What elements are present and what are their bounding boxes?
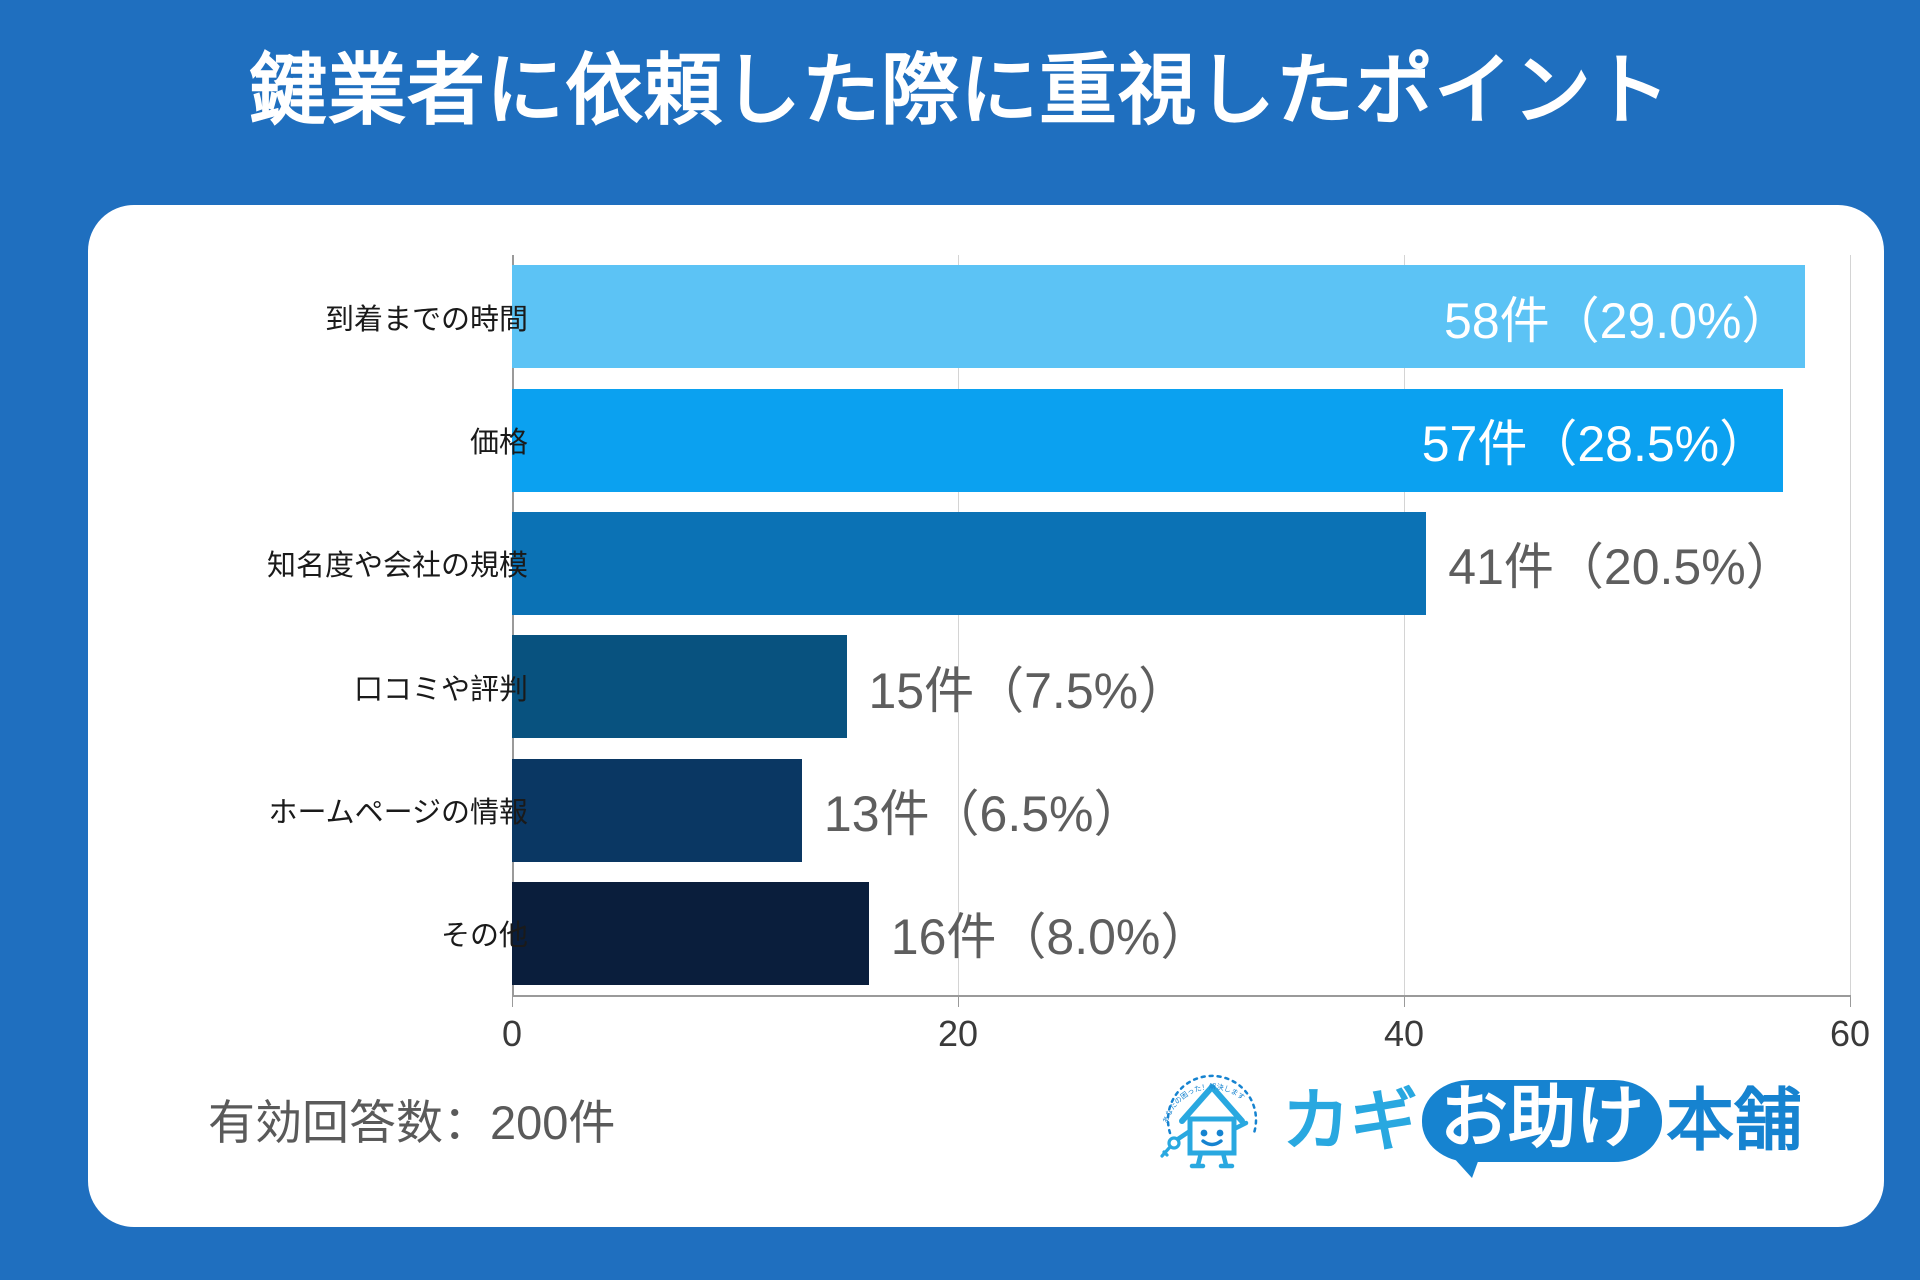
y-axis-label: ホームページの情報 [268,789,528,831]
x-axis: 0204060 [512,995,1850,1065]
bar-value-label: 58件（29.0%） [1444,281,1791,353]
bar-row: 15件（7.5%） [512,635,1850,738]
brand-logo: あなたの困った！解決します カギ お助け 本舗 [1156,1063,1802,1179]
chart-card: 58件（29.0%）57件（28.5%）41件（20.5%）15件（7.5%）1… [88,205,1884,1227]
bar-row: 13件（6.5%） [512,759,1850,862]
y-axis-label: 価格 [470,419,528,461]
logo-part1: カギ [1282,1087,1418,1155]
y-axis-label: 到着までの時間 [325,296,528,338]
bar-row: 16件（8.0%） [512,882,1850,985]
valid-responses-note: 有効回答数：200件 [208,1084,615,1153]
brand-logo-text: カギ お助け 本舗 [1282,1080,1802,1162]
bar-row: 57件（28.5%） [512,389,1850,492]
x-tick-label: 20 [938,1013,978,1055]
x-tick-label: 60 [1830,1013,1870,1055]
house-mascot-icon: あなたの困った！解決します [1156,1067,1268,1175]
bar[interactable] [512,512,1426,615]
bar-value-label: 13件（6.5%） [824,774,1144,846]
logo-bubble-text: お助け [1422,1080,1662,1162]
bar-row: 58件（29.0%） [512,265,1850,368]
x-tick [1850,995,1851,1007]
y-axis-label: 知名度や会社の規模 [267,542,528,584]
bar-value-label: 15件（7.5%） [869,651,1189,723]
x-tick [1404,995,1405,1007]
bar-value-label: 41件（20.5%） [1448,527,1795,599]
page-title: 鍵業者に依頼した際に重視したポイント [0,46,1920,136]
x-tick-label: 0 [502,1013,522,1055]
logo-part2: 本舗 [1666,1087,1802,1155]
plot-area: 58件（29.0%）57件（28.5%）41件（20.5%）15件（7.5%）1… [512,255,1850,995]
x-tick-label: 40 [1384,1013,1424,1055]
bar[interactable] [512,882,869,985]
y-axis-label: 口コミや評判 [354,666,528,708]
bar[interactable] [512,759,802,862]
gridline [1850,255,1851,995]
bar-row: 41件（20.5%） [512,512,1850,615]
bar-value-label: 57件（28.5%） [1422,404,1769,476]
x-tick [958,995,959,1007]
x-tick [512,995,513,1007]
y-axis-label: その他 [441,912,528,954]
bar[interactable] [512,635,847,738]
bar-value-label: 16件（8.0%） [891,897,1211,969]
x-axis-line [512,995,1850,997]
